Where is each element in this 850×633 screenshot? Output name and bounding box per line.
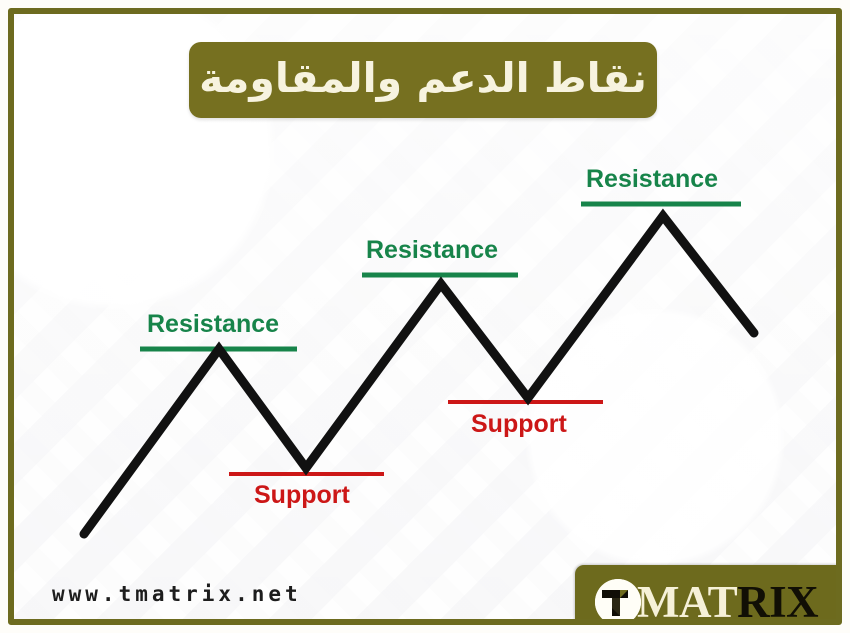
website-url: www.tmatrix.net [52, 582, 302, 606]
poster-frame: ResistanceResistanceResistanceSupportSup… [8, 8, 842, 625]
t-monogram-icon [595, 579, 641, 625]
resistance-label: Resistance [586, 165, 718, 194]
support-label: Support [254, 481, 350, 510]
resistance-label: Resistance [366, 236, 498, 265]
brand-wordmark-light: MAT [637, 577, 737, 626]
poster-canvas: ResistanceResistanceResistanceSupportSup… [0, 0, 850, 633]
support-label: Support [471, 410, 567, 439]
brand-wordmark-dark: RIX [737, 577, 818, 626]
brand-wordmark: MATRIX [637, 580, 818, 625]
page-title: نقاط الدعم والمقاومة [199, 58, 647, 103]
title-banner: نقاط الدعم والمقاومة [189, 42, 657, 118]
resistance-label: Resistance [147, 310, 279, 339]
brand-logo: MATRIX [575, 565, 842, 625]
